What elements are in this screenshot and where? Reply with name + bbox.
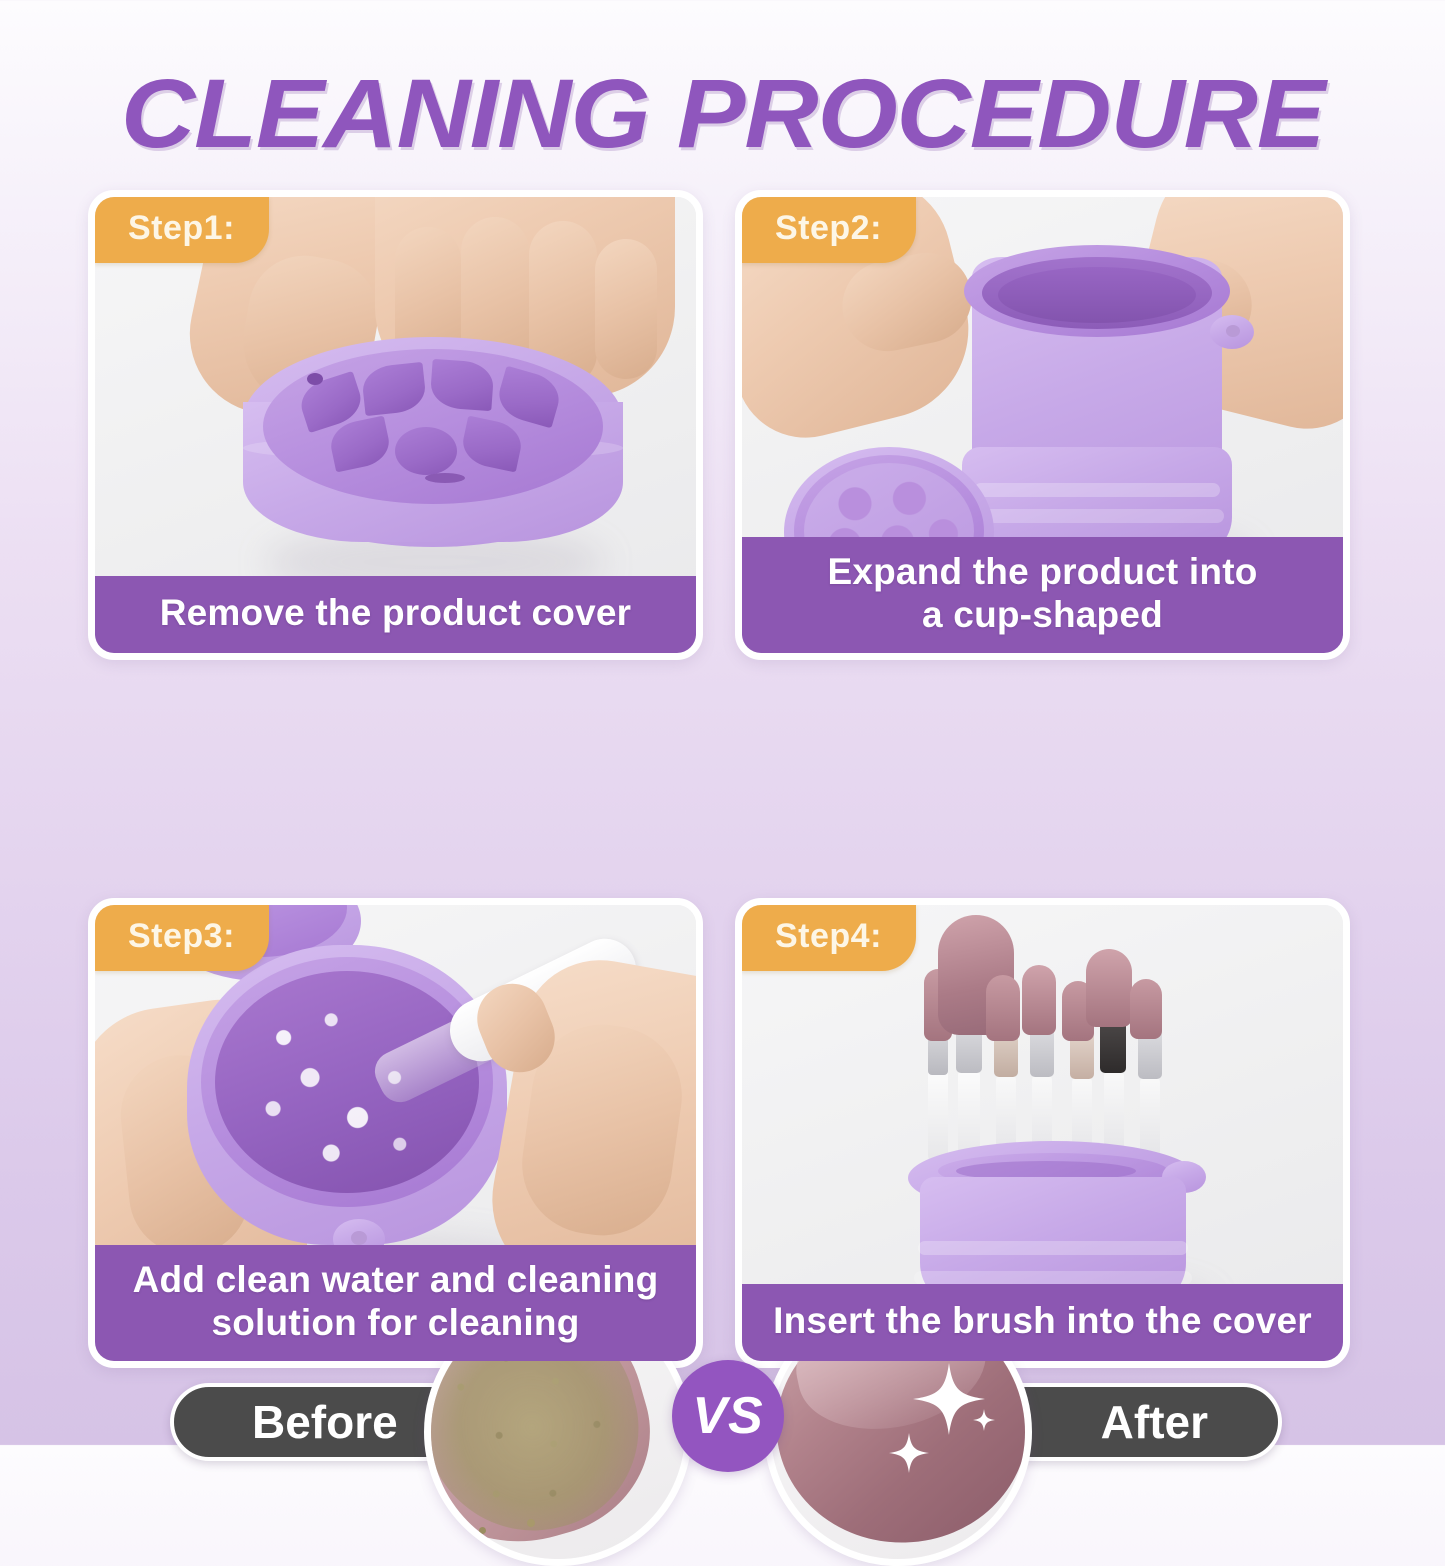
step-card-3: Step3: Add clean water and cleaning solu…	[88, 898, 703, 1368]
step-2-caption: Expand the product into a cup-shaped	[742, 537, 1343, 653]
before-label: Before	[252, 1395, 398, 1449]
vs-label: VS	[692, 1386, 763, 1446]
step-3-caption-line-2: solution for cleaning	[105, 1302, 686, 1345]
step-2-badge: Step2:	[741, 196, 916, 263]
step-card-4: Step4: Insert the brush into the cover	[735, 898, 1350, 1368]
step-2-caption-line-2: a cup-shaped	[752, 594, 1333, 637]
page-title: CLEANING PROCEDURE	[121, 58, 1324, 170]
step-3-caption: Add clean water and cleaning solution fo…	[95, 1245, 696, 1361]
sparkle-icon-small	[889, 1433, 929, 1473]
sparkle-icon-tiny	[973, 1409, 995, 1431]
vs-badge: VS	[672, 1360, 784, 1472]
step-4-caption: Insert the brush into the cover	[742, 1284, 1343, 1361]
step-3-caption-line-1: Add clean water and cleaning	[105, 1259, 686, 1302]
step-4-badge: Step4:	[741, 904, 916, 971]
step-2-caption-line-1: Expand the product into	[752, 551, 1333, 594]
step-card-1: Step1: Remove the product cover	[88, 190, 703, 660]
before-after-comparison: Before After	[0, 648, 1445, 888]
after-label: After	[1101, 1395, 1208, 1449]
step-1-badge: Step1:	[94, 196, 269, 263]
step-3-badge: Step3:	[94, 904, 269, 971]
step-1-caption: Remove the product cover	[95, 576, 696, 653]
step-card-2: Step2: Expand the product into a cup-sha…	[735, 190, 1350, 660]
page-header: CLEANING PROCEDURE	[0, 58, 1445, 170]
